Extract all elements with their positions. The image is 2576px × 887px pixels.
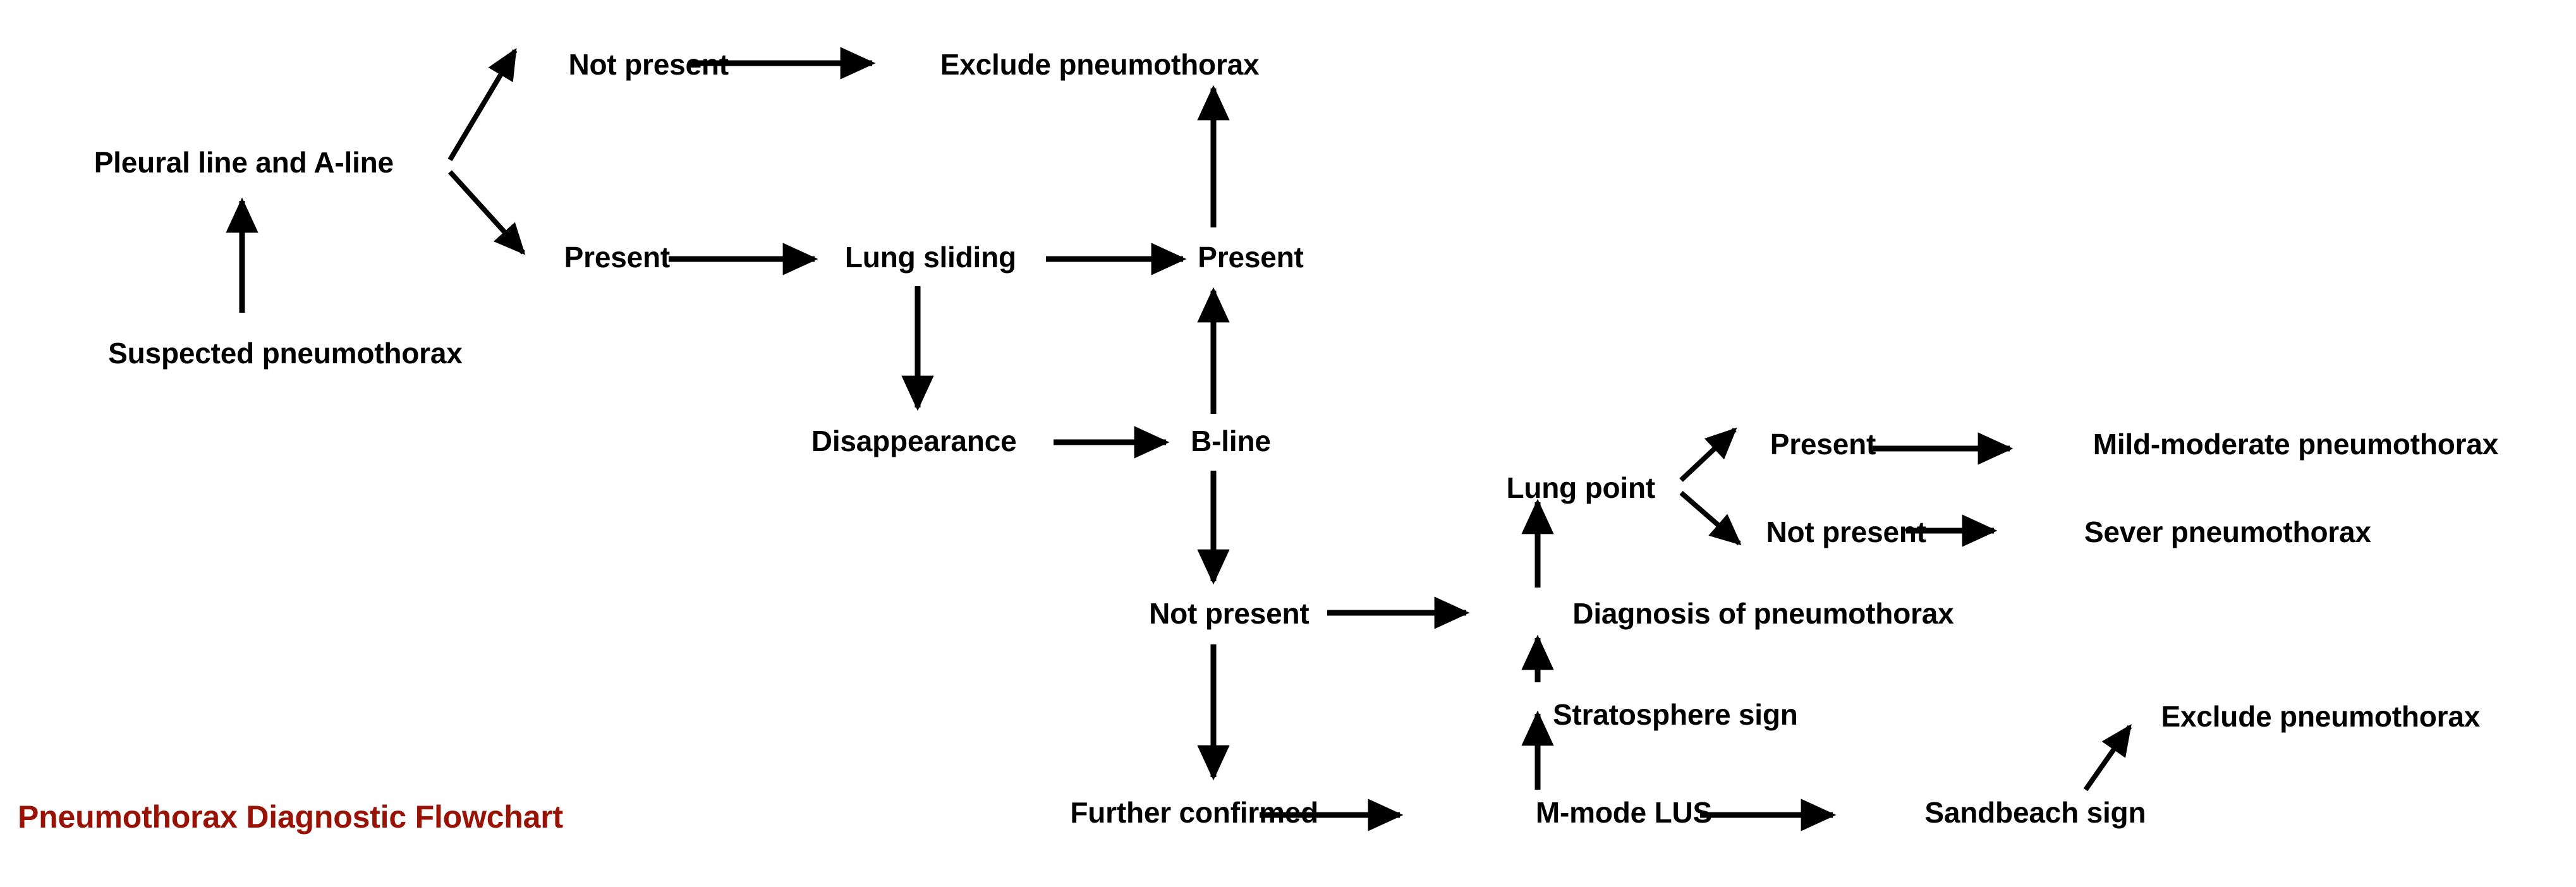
flow-node-b_line: B-line <box>1191 426 1271 456</box>
flow-edge-pleural-to-present <box>450 172 523 253</box>
flow-node-aline_not_present: Not present <box>569 50 729 79</box>
flow-node-aline_present: Present <box>564 243 670 272</box>
flowchart-canvas: Suspected pneumothoraxPleural line and A… <box>0 0 2576 887</box>
flow-edge-lung-point-to-present <box>1681 430 1735 480</box>
flow-node-diagnosis: Diagnosis of pneumothorax <box>1572 599 1953 628</box>
flow-node-disappearance: Disappearance <box>811 426 1017 456</box>
flow-node-lung_sliding: Lung sliding <box>845 243 1016 272</box>
flow-node-further_confirmed: Further confirmed <box>1070 798 1318 827</box>
flow-node-exclude_bottom: Exclude pneumothorax <box>2161 702 2480 731</box>
flow-node-m_mode_lus: M-mode LUS <box>1536 798 1712 827</box>
flow-node-sliding_present: Present <box>1198 243 1303 272</box>
flow-node-lung_point: Lung point <box>1506 473 1655 502</box>
flow-node-mild_moderate: Mild-moderate pneumothorax <box>2093 430 2498 459</box>
flow-node-lp_not_present: Not present <box>1766 517 1926 546</box>
flow-node-pleural_a_line: Pleural line and A-line <box>94 148 394 177</box>
flow-node-sandbeach: Sandbeach sign <box>1924 798 2146 827</box>
flow-node-stratosphere: Stratosphere sign <box>1553 700 1798 729</box>
flow-edge-sandbeach-to-exclude <box>2086 727 2130 790</box>
flow-edge-pleural-to-not-present <box>450 51 515 160</box>
flow-node-bline_not_present: Not present <box>1149 599 1309 628</box>
page-title: Pneumothorax Diagnostic Flowchart <box>18 801 563 833</box>
flow-edge-lung-point-to-not-present <box>1681 493 1739 543</box>
flow-node-exclude_top: Exclude pneumothorax <box>940 50 1260 79</box>
flow-node-lp_present: Present <box>1770 430 1876 459</box>
flow-node-severe: Sever pneumothorax <box>2084 517 2371 546</box>
flow-node-suspected: Suspected pneumothorax <box>108 339 462 368</box>
